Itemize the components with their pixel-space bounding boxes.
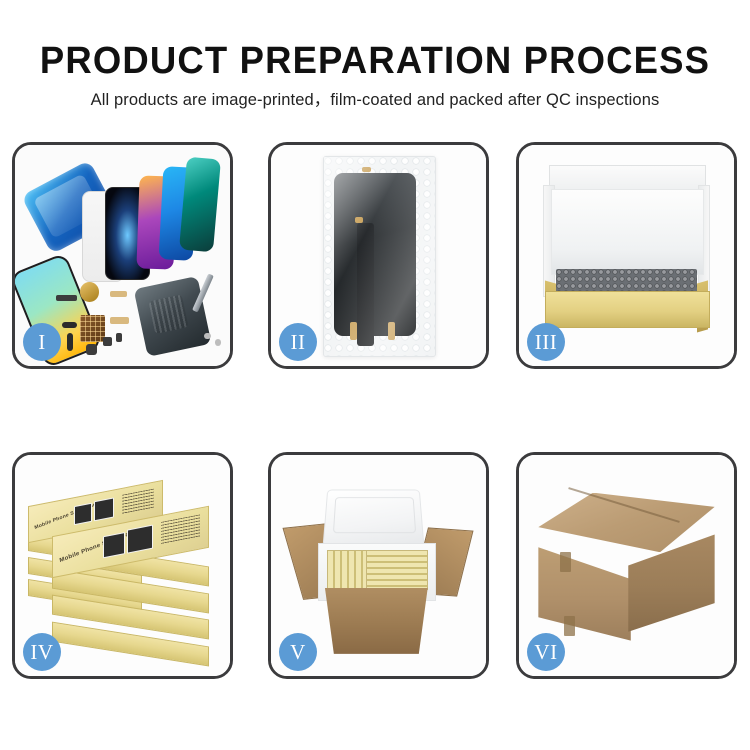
tape-connector bbox=[362, 167, 371, 172]
carton-tape-patch bbox=[560, 552, 571, 572]
box-artwork-swatch bbox=[102, 532, 124, 558]
yellow-boxes-inside bbox=[366, 550, 428, 590]
speaker-component bbox=[80, 282, 99, 302]
box-spec-lines bbox=[122, 488, 154, 515]
box-artwork-swatch bbox=[127, 525, 152, 553]
box-front-panel bbox=[545, 291, 710, 328]
teal-phone-shape bbox=[179, 157, 221, 252]
box-label-text-front: Mobile Phone Spare Parts bbox=[59, 529, 138, 565]
logic-board-component bbox=[80, 315, 106, 342]
page-header: PRODUCT PREPARATION PROCESS All products… bbox=[0, 0, 750, 110]
carton-tape-patch bbox=[564, 616, 575, 636]
carton-body bbox=[320, 588, 432, 654]
process-step-panel-3[interactable]: III bbox=[516, 142, 737, 369]
screw-component bbox=[204, 333, 210, 340]
process-step-panel-4[interactable]: Mobile Phone Spare Parts Mobile Phone Sp… bbox=[12, 452, 233, 679]
tape-connector bbox=[388, 322, 395, 340]
lcd-screen-shape bbox=[334, 173, 417, 336]
step-badge-5: V bbox=[279, 633, 317, 671]
carton-top-face bbox=[538, 493, 714, 553]
page-subtitle: All products are image-printed，film-coat… bbox=[0, 82, 750, 110]
step-badge-3: III bbox=[527, 323, 565, 361]
process-step-panel-5[interactable]: V bbox=[268, 452, 489, 679]
battery-connector-component bbox=[56, 295, 78, 301]
small-chip-component bbox=[103, 337, 112, 346]
back-housing-shape bbox=[133, 276, 210, 356]
styrofoam-lid bbox=[322, 489, 423, 546]
connector-component bbox=[110, 317, 129, 324]
white-foam-sheet bbox=[551, 189, 704, 275]
lcd-flex-tail bbox=[357, 223, 374, 346]
process-step-grid: I II bbox=[0, 140, 750, 685]
box-spec-lines bbox=[161, 514, 200, 545]
step-badge-2: II bbox=[279, 323, 317, 361]
screw-component bbox=[215, 339, 221, 346]
page-title: PRODUCT PREPARATION PROCESS bbox=[15, 0, 735, 82]
process-step-panel-1[interactable]: I bbox=[12, 142, 233, 369]
connector-component bbox=[110, 291, 127, 298]
box-artwork-swatch bbox=[94, 497, 113, 521]
flex-cable-component bbox=[67, 333, 73, 351]
flex-cable-component bbox=[62, 322, 77, 329]
carton-front-face bbox=[538, 535, 630, 641]
bubble-wrap-bag bbox=[323, 156, 437, 357]
process-step-panel-2[interactable]: II bbox=[268, 142, 489, 369]
step-badge-1: I bbox=[23, 323, 61, 361]
tape-connector bbox=[355, 217, 363, 223]
process-step-panel-6[interactable]: VI bbox=[516, 452, 737, 679]
box-artwork-swatch bbox=[74, 503, 92, 525]
tape-connector bbox=[350, 322, 357, 340]
step-badge-6: VI bbox=[527, 633, 565, 671]
camera-module-component bbox=[86, 344, 97, 355]
step-badge-4: IV bbox=[23, 633, 61, 671]
small-chip-component bbox=[116, 333, 122, 342]
